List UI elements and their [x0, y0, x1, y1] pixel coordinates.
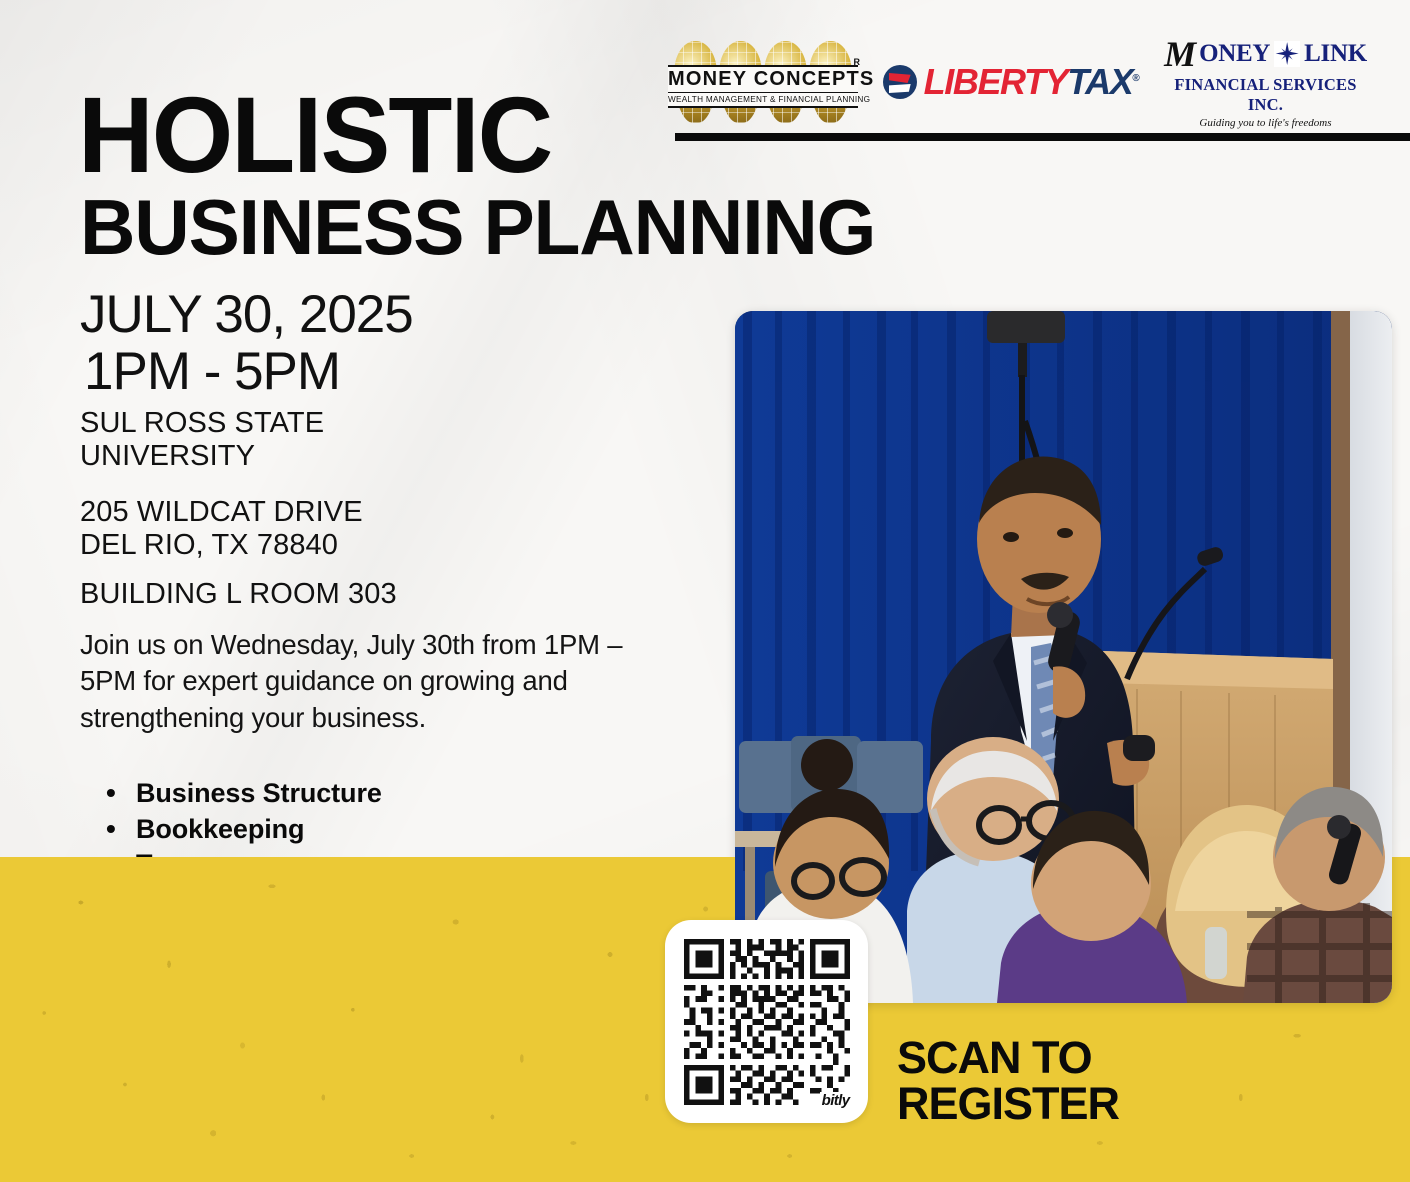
- page-title-line-1: HOLISTIC: [78, 85, 551, 184]
- page-title-line-2: BUSINESS PLANNING: [80, 188, 875, 266]
- list-item: Bookkeeping: [136, 812, 382, 848]
- liberty-tax-word-1: LIBERTY: [924, 61, 1068, 102]
- event-time: 1PM - 5PM: [80, 343, 413, 400]
- liberty-tax-logo: LIBERTYTAX®: [883, 64, 1139, 100]
- registered-mark: ®: [1132, 73, 1138, 84]
- liberty-tax-word-2: TAX: [1067, 61, 1132, 102]
- money-concepts-logo: MONEY CONCEPTS WEALTH MANAGEMENT & FINAN…: [668, 39, 858, 125]
- bitly-brand-label: bitly: [820, 1092, 852, 1109]
- registered-mark: R: [854, 57, 861, 67]
- list-item: Business Structure: [136, 776, 382, 812]
- event-description: Join us on Wednesday, July 30th from 1PM…: [80, 627, 660, 736]
- venue-line-1: SUL ROSS STATE: [80, 407, 324, 440]
- money-concepts-name: MONEY CONCEPTS: [668, 69, 858, 90]
- event-room: BUILDING L ROOM 303: [80, 578, 397, 611]
- event-flyer: MONEY CONCEPTS WEALTH MANAGEMENT & FINAN…: [0, 0, 1410, 1182]
- money-link-subtitle: FINANCIAL SERVICES INC.: [1163, 75, 1368, 115]
- event-datetime: JULY 30, 2025 1PM - 5PM: [80, 286, 413, 400]
- yellow-band-left: [0, 857, 735, 1182]
- money-concepts-tagline: WEALTH MANAGEMENT & FINANCIAL PLANNING: [668, 92, 858, 104]
- money-link-tagline: Guiding you to life's freedoms: [1163, 117, 1368, 129]
- compass-rose-icon: [1274, 41, 1300, 67]
- qr-code-card[interactable]: bitly: [665, 920, 868, 1123]
- event-photo: [735, 311, 1392, 1003]
- title-divider: [675, 133, 1410, 141]
- venue-line-2: UNIVERSITY: [80, 440, 324, 473]
- event-venue: SUL ROSS STATE UNIVERSITY: [80, 407, 324, 474]
- scan-line-1: SCAN TO: [897, 1035, 1119, 1081]
- event-address: 205 WILDCAT DRIVE DEL RIO, TX 78840: [80, 496, 363, 563]
- money-link-link: LINK: [1304, 41, 1367, 66]
- address-line-2: DEL RIO, TX 78840: [80, 529, 363, 562]
- liberty-torch-icon: [883, 65, 917, 99]
- money-link-oney: ONEY: [1199, 41, 1270, 66]
- event-date: JULY 30, 2025: [80, 286, 413, 343]
- address-line-1: 205 WILDCAT DRIVE: [80, 496, 363, 529]
- speckle-texture-left: [0, 857, 735, 1182]
- money-link-logo: MONEY LINK FINANCIAL SERVICES INC. Guidi…: [1163, 36, 1368, 129]
- qr-code-image[interactable]: bitly: [684, 939, 850, 1105]
- money-link-m: M: [1164, 36, 1195, 72]
- partner-logos: MONEY CONCEPTS WEALTH MANAGEMENT & FINAN…: [668, 34, 1368, 130]
- scan-line-2: REGISTER: [897, 1081, 1119, 1127]
- scan-to-register-label: SCAN TO REGISTER: [897, 1035, 1119, 1127]
